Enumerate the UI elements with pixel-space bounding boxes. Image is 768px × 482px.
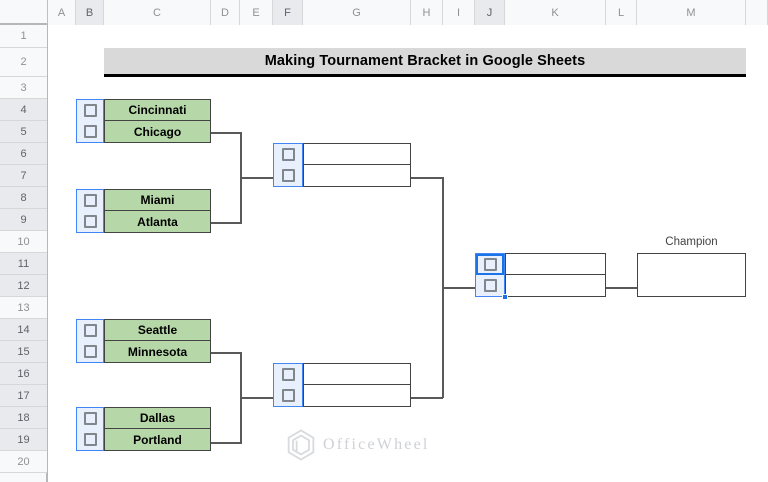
checkbox-cell[interactable] <box>77 100 103 121</box>
column-header-m[interactable]: M <box>637 0 746 25</box>
checkbox-range-round1-match2[interactable] <box>76 189 104 233</box>
connector-line <box>211 442 241 444</box>
semifinal-slot[interactable] <box>303 165 411 187</box>
column-header-label: E <box>252 7 259 19</box>
row-header-14[interactable]: 14 <box>0 319 47 341</box>
checkbox-cell[interactable] <box>77 429 103 450</box>
connector-line <box>240 397 274 399</box>
fill-handle[interactable] <box>502 294 508 300</box>
column-header-label: C <box>153 7 161 19</box>
team-cell[interactable]: Cincinnati <box>104 99 211 121</box>
row-header-label: 18 <box>17 412 29 424</box>
checkbox-icon[interactable] <box>282 169 295 182</box>
checkbox-icon[interactable] <box>484 258 497 271</box>
row-header-19[interactable]: 19 <box>0 429 47 451</box>
row-header-label: 7 <box>20 170 26 182</box>
connector-line <box>240 177 274 179</box>
column-header-f[interactable]: F <box>273 0 303 25</box>
checkbox-icon[interactable] <box>84 433 97 446</box>
checkbox-icon[interactable] <box>84 194 97 207</box>
team-name: Cincinnati <box>128 103 186 117</box>
champion-label: Champion <box>637 231 746 253</box>
checkbox-range-round2-match1[interactable] <box>273 143 303 187</box>
checkbox-icon[interactable] <box>282 389 295 402</box>
team-cell[interactable]: Atlanta <box>104 211 211 233</box>
column-header-blank[interactable] <box>746 0 768 25</box>
row-header-label: 5 <box>20 126 26 138</box>
column-header-label: A <box>58 7 65 19</box>
column-header-c[interactable]: C <box>104 0 211 25</box>
checkbox-cell[interactable] <box>274 364 302 385</box>
row-header-label: 13 <box>17 302 29 314</box>
team-name: Seattle <box>138 323 177 337</box>
checkbox-cell[interactable] <box>274 165 302 186</box>
team-name: Miami <box>140 193 174 207</box>
row-header-label: 2 <box>20 56 26 68</box>
checkbox-range-round2-match2[interactable] <box>273 363 303 407</box>
row-header-strip: 1234567891011121314151617181920 <box>0 25 48 482</box>
row-header-16[interactable]: 16 <box>0 363 47 385</box>
row-header-12[interactable]: 12 <box>0 275 47 297</box>
team-cell[interactable]: Dallas <box>104 407 211 429</box>
row-header-18[interactable]: 18 <box>0 407 47 429</box>
row-header-4[interactable]: 4 <box>0 99 47 121</box>
checkbox-cell[interactable] <box>77 211 103 232</box>
row-header-10[interactable]: 10 <box>0 231 47 253</box>
column-header-g[interactable]: G <box>303 0 411 25</box>
checkbox-range-round1-match1[interactable] <box>76 99 104 143</box>
team-name: Chicago <box>134 125 181 139</box>
checkbox-icon[interactable] <box>84 104 97 117</box>
column-header-label: H <box>423 7 431 19</box>
row-header-5[interactable]: 5 <box>0 121 47 143</box>
team-cell[interactable]: Minnesota <box>104 341 211 363</box>
team-name: Portland <box>133 433 182 447</box>
select-all-corner[interactable] <box>0 0 48 25</box>
row-header-2[interactable]: 2 <box>0 48 47 77</box>
column-header-label: J <box>487 7 493 19</box>
team-name: Dallas <box>140 411 175 425</box>
column-header-label: I <box>457 7 460 19</box>
checkbox-icon[interactable] <box>84 412 97 425</box>
column-header-e[interactable]: E <box>240 0 273 25</box>
semifinal-slot[interactable] <box>303 385 411 407</box>
semifinal-slot[interactable] <box>303 363 411 385</box>
team-cell[interactable]: Portland <box>104 429 211 451</box>
checkbox-cell[interactable] <box>77 190 103 211</box>
column-header-b[interactable]: B <box>76 0 104 25</box>
final-slot[interactable] <box>505 253 606 275</box>
checkbox-icon[interactable] <box>282 148 295 161</box>
checkbox-range-final[interactable] <box>475 253 505 297</box>
row-header-7[interactable]: 7 <box>0 165 47 187</box>
column-header-d[interactable]: D <box>211 0 240 25</box>
checkbox-icon[interactable] <box>84 215 97 228</box>
row-header-9[interactable]: 9 <box>0 209 47 231</box>
row-header-1[interactable]: 1 <box>0 25 47 48</box>
row-header-label: 1 <box>20 30 26 42</box>
champion-box[interactable] <box>637 253 746 297</box>
row-header-label: 8 <box>20 192 26 204</box>
row-header-15[interactable]: 15 <box>0 341 47 363</box>
hexagon-logo-icon <box>286 429 316 461</box>
row-header-label: 9 <box>20 214 26 226</box>
connector-line <box>211 352 241 354</box>
checkbox-cell[interactable] <box>476 275 504 296</box>
checkbox-icon[interactable] <box>282 368 295 381</box>
row-header-8[interactable]: 8 <box>0 187 47 209</box>
grid-body[interactable]: Making Tournament Bracket in Google Shee… <box>48 25 768 482</box>
page-title: Making Tournament Bracket in Google Shee… <box>265 53 586 69</box>
team-name: Minnesota <box>128 345 187 359</box>
column-header-label: L <box>618 7 624 19</box>
connector-line <box>411 397 443 399</box>
team-cell[interactable]: Seattle <box>104 319 211 341</box>
checkbox-range-round1-match3[interactable] <box>76 319 104 363</box>
checkbox-range-round1-match4[interactable] <box>76 407 104 451</box>
row-header-label: 3 <box>20 82 26 94</box>
watermark-text: OfficeWheel <box>323 436 430 454</box>
row-header-label: 19 <box>17 434 29 446</box>
column-header-l[interactable]: L <box>606 0 637 25</box>
column-header-label: F <box>284 7 291 19</box>
checkbox-cell[interactable] <box>77 121 103 142</box>
connector-line <box>411 177 443 179</box>
checkbox-cell[interactable] <box>274 144 302 165</box>
row-header-label: 20 <box>17 456 29 468</box>
row-header-label: 10 <box>17 236 29 248</box>
semifinal-slot[interactable] <box>303 143 411 165</box>
column-header-label: K <box>551 7 558 19</box>
column-header-label: B <box>86 7 93 19</box>
checkbox-cell[interactable] <box>77 320 103 341</box>
checkbox-cell[interactable] <box>274 385 302 406</box>
checkbox-icon[interactable] <box>484 279 497 292</box>
row-header-label: 4 <box>20 104 26 116</box>
team-name: Atlanta <box>137 215 178 229</box>
final-slot[interactable] <box>505 275 606 297</box>
team-cell[interactable]: Miami <box>104 189 211 211</box>
checkbox-icon[interactable] <box>84 345 97 358</box>
connector-line <box>606 287 638 289</box>
row-header-label: 15 <box>17 346 29 358</box>
column-header-k[interactable]: K <box>505 0 606 25</box>
checkbox-icon[interactable] <box>84 324 97 337</box>
connector-line <box>211 222 241 224</box>
column-header-label: D <box>221 7 229 19</box>
row-header-3[interactable]: 3 <box>0 77 47 99</box>
column-header-i[interactable]: I <box>443 0 475 25</box>
row-header-label: 12 <box>17 280 29 292</box>
column-header-label: G <box>352 7 361 19</box>
row-header-6[interactable]: 6 <box>0 143 47 165</box>
row-header-label: 17 <box>17 390 29 402</box>
column-header-a[interactable]: A <box>48 0 76 25</box>
row-header-17[interactable]: 17 <box>0 385 47 407</box>
column-header-strip: ABCDEFGHIJKLM <box>48 0 768 25</box>
checkbox-cell[interactable] <box>77 341 103 362</box>
team-cell[interactable]: Chicago <box>104 121 211 143</box>
sheet-title-banner: Making Tournament Bracket in Google Shee… <box>104 48 746 77</box>
column-header-label: M <box>686 7 695 19</box>
checkbox-cell[interactable] <box>77 408 103 429</box>
row-header-label: 6 <box>20 148 26 160</box>
spreadsheet-app: ABCDEFGHIJKLM 12345678910111213141516171… <box>0 0 768 482</box>
checkbox-icon[interactable] <box>84 125 97 138</box>
row-header-label: 16 <box>17 368 29 380</box>
champion-label-text: Champion <box>665 236 717 248</box>
row-header-label: 11 <box>18 258 29 270</box>
row-header-11[interactable]: 11 <box>0 253 47 275</box>
connector-line <box>211 132 241 134</box>
active-checkbox-cell[interactable] <box>476 254 504 275</box>
column-header-h[interactable]: H <box>411 0 443 25</box>
connector-line <box>442 287 475 289</box>
row-header-label: 14 <box>17 324 29 336</box>
row-header-20[interactable]: 20 <box>0 451 47 473</box>
row-header-13[interactable]: 13 <box>0 297 47 319</box>
column-header-j[interactable]: J <box>475 0 505 25</box>
watermark: OfficeWheel <box>286 429 430 461</box>
